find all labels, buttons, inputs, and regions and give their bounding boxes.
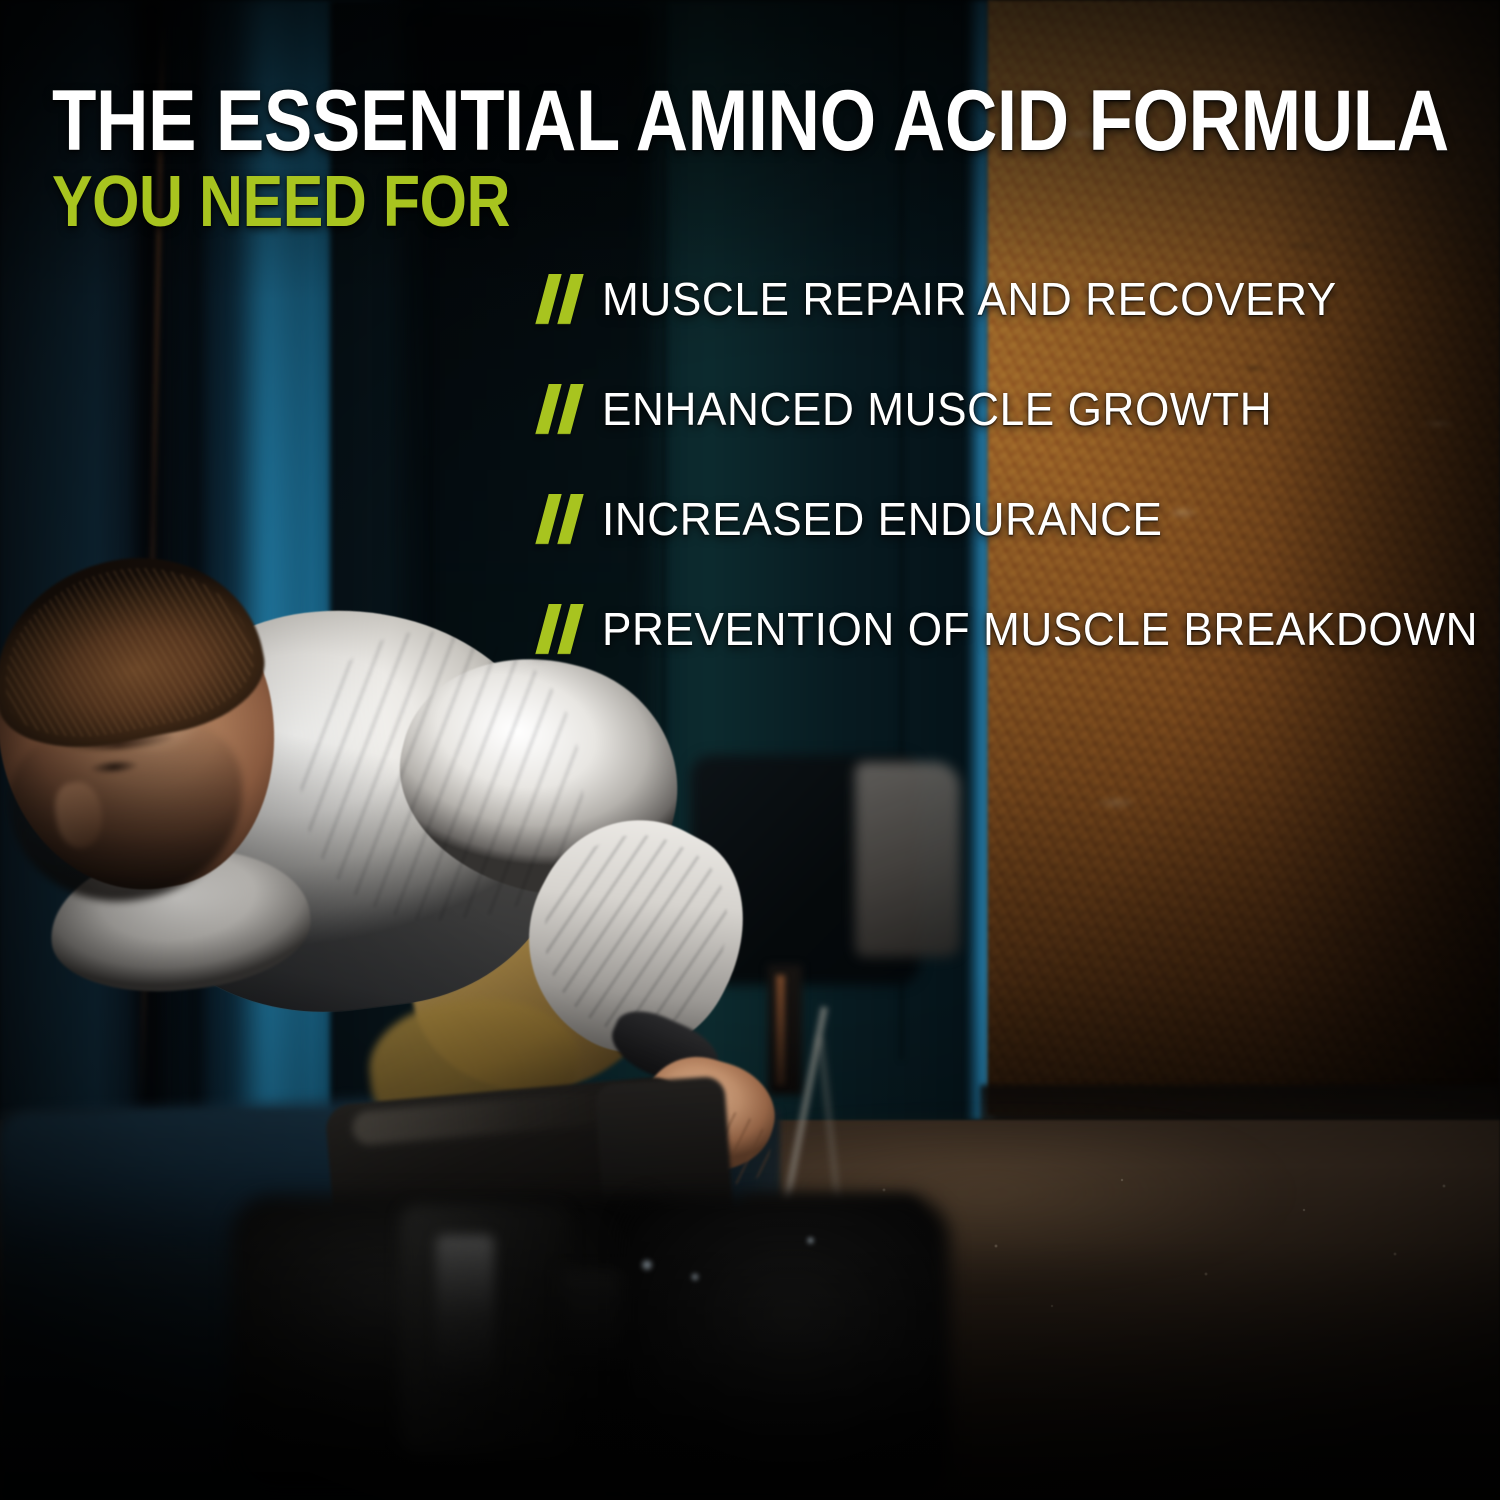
benefit-item: ENHANCED MUSCLE GROWTH [540,378,1480,440]
benefits-list: MUSCLE REPAIR AND RECOVERY ENHANCED MUSC… [540,268,1480,660]
headline-line-2: YOU NEED FOR [52,169,1252,235]
benefit-label: PREVENTION OF MUSCLE BREAKDOWN [602,606,1478,652]
benefit-item: PREVENTION OF MUSCLE BREAKDOWN [540,598,1480,660]
double-slash-icon [540,604,584,654]
benefit-item: MUSCLE REPAIR AND RECOVERY [540,268,1480,330]
benefit-label: ENHANCED MUSCLE GROWTH [602,386,1272,432]
benefit-label: INCREASED ENDURANCE [602,496,1163,542]
double-slash-icon [540,274,584,324]
text-overlay: THE ESSENTIAL AMINO ACID FORMULA YOU NEE… [0,0,1500,1500]
benefit-label: MUSCLE REPAIR AND RECOVERY [602,276,1337,322]
headline-line-1: THE ESSENTIAL AMINO ACID FORMULA [52,82,1252,161]
headline-block: THE ESSENTIAL AMINO ACID FORMULA YOU NEE… [52,82,1472,235]
double-slash-icon [540,384,584,434]
double-slash-icon [540,494,584,544]
benefit-item: INCREASED ENDURANCE [540,488,1480,550]
promo-poster: THE ESSENTIAL AMINO ACID FORMULA YOU NEE… [0,0,1500,1500]
